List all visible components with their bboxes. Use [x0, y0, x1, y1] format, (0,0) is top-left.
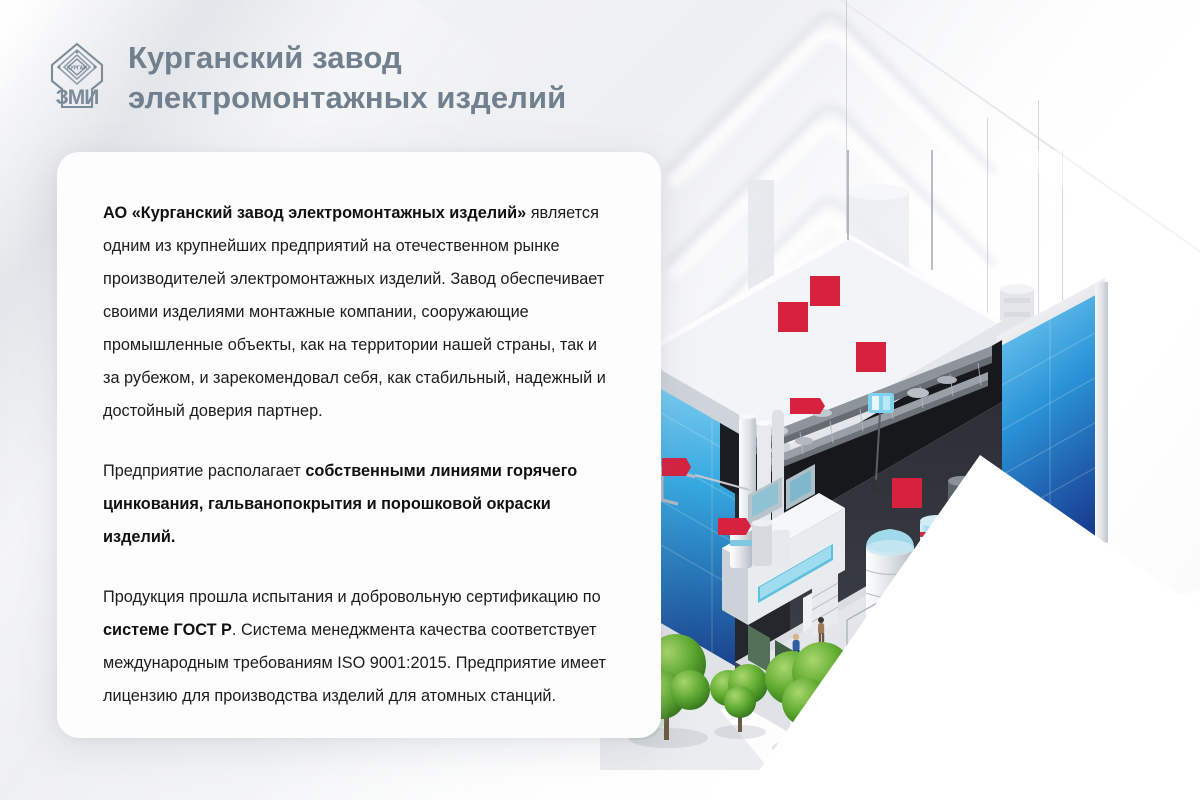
body-text: является одним из крупнейших предприятий… [103, 204, 606, 420]
page-header: КУРГАН ЗМИ Курганский завод электромонта… [48, 38, 566, 117]
card-paragraph: Предприятие располагает собственными лин… [103, 455, 615, 554]
info-card: АО «Курганский завод электромонтажных из… [57, 152, 661, 738]
body-text: Продукция прошла испытания и добровольну… [103, 588, 601, 606]
card-paragraph: Продукция прошла испытания и добровольну… [103, 581, 615, 713]
foreground-white-corner [960, 670, 1200, 800]
body-text: Предприятие располагает [103, 462, 305, 480]
poster-root: КУРГАН ЗМИ Курганский завод электромонта… [0, 0, 1200, 800]
emphasised-text: АО «Курганский завод электромонтажных из… [103, 204, 531, 222]
info-card-body: АО «Курганский завод электромонтажных из… [103, 197, 615, 713]
kzemi-logo-icon: КУРГАН ЗМИ [48, 41, 106, 115]
logo-inner-text: КУРГАН [67, 65, 87, 71]
emphasised-text: системе ГОСТ Р [103, 621, 232, 639]
page-title: Курганский завод электромонтажных издели… [128, 38, 566, 117]
logo-letters: ЗМИ [56, 86, 99, 109]
card-paragraph: АО «Курганский завод электромонтажных из… [103, 197, 615, 428]
